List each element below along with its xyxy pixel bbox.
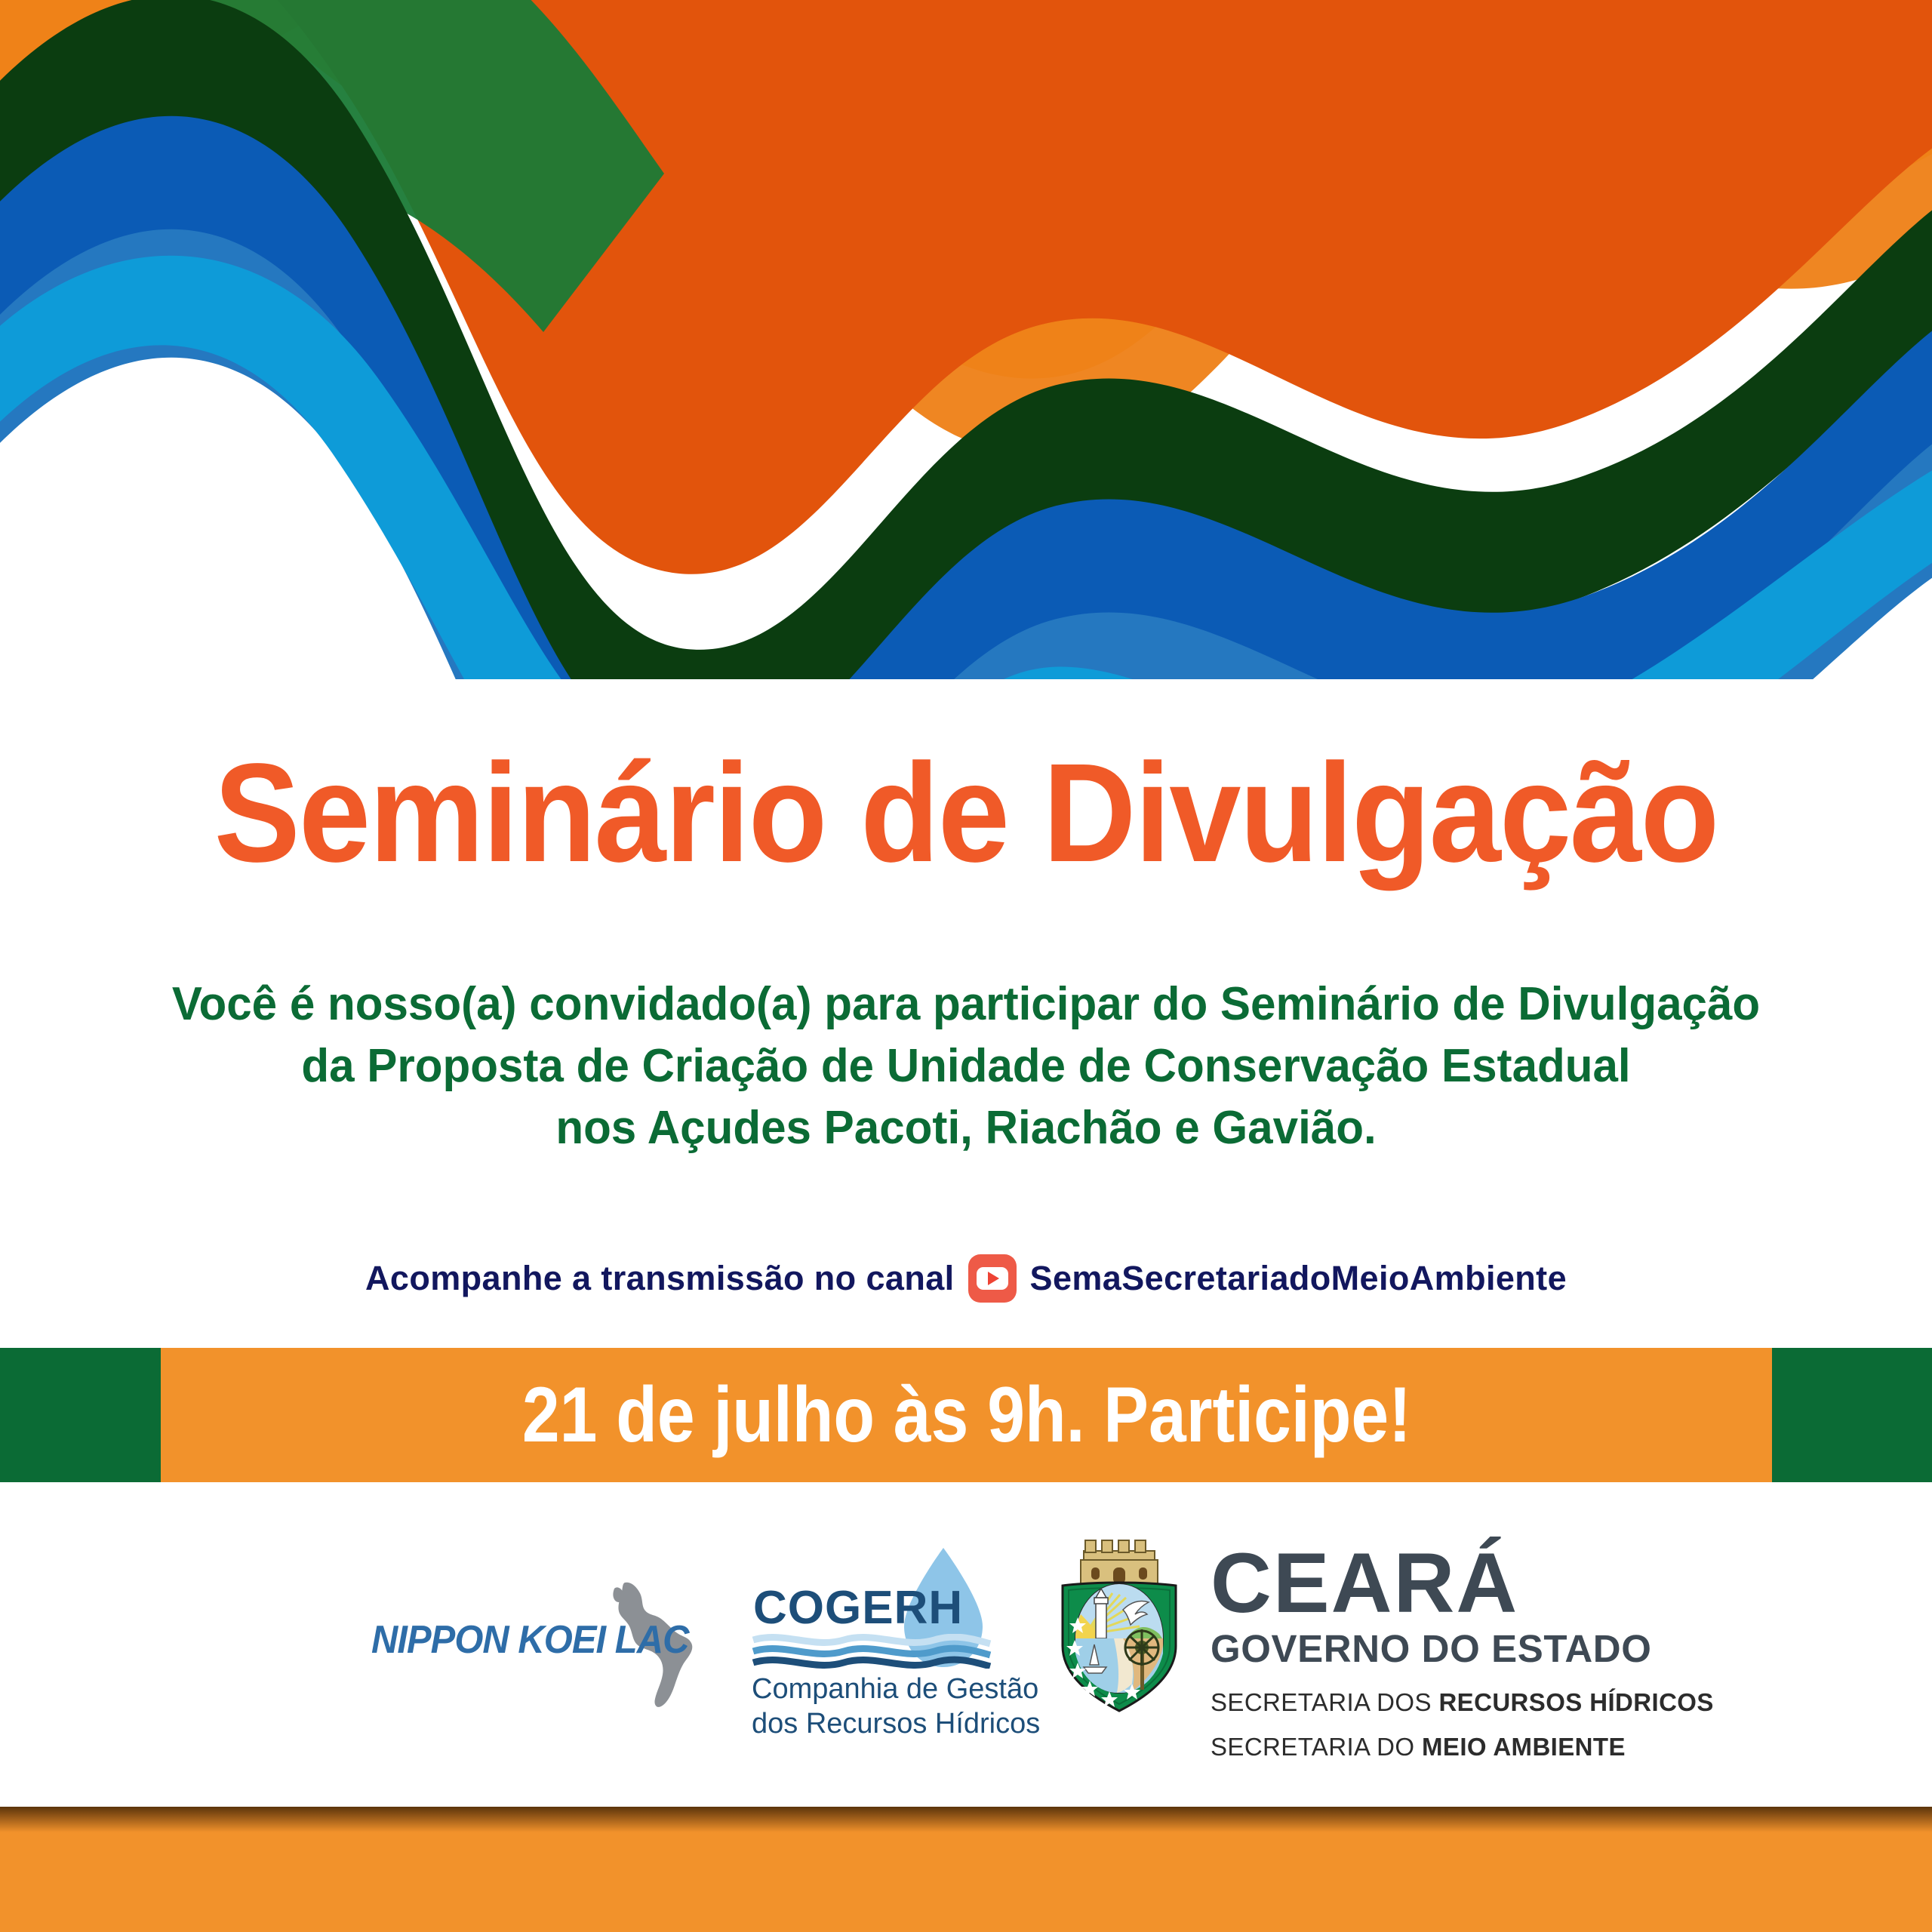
logo-cogerh-subtitle: Companhia de Gestão dos Recursos Hídrico… [752,1672,1040,1742]
poster-root: Seminário de Divulgação Você é nosso(a) … [0,0,1932,1932]
logo-nippon-koei-lac: NIPPON KOEI LAC [371,1577,696,1712]
ceara-secretaria-meio-ambiente: SECRETARIA DO MEIO AMBIENTE [1211,1734,1714,1761]
channel-line: Acompanhe a transmissão no canal SemaSec… [0,1254,1932,1303]
sec1-prefix: SECRETARIA DOS [1211,1688,1438,1716]
invitation-paragraph: Você é nosso(a) convidado(a) para partic… [29,974,1903,1158]
logo-cogerh-label: COGERH [753,1581,963,1635]
logo-cogerh-subtitle-line-1: Companhia de Gestão [752,1672,1040,1706]
invitation-line-1: Você é nosso(a) convidado(a) para partic… [29,974,1903,1035]
play-triangle-icon [988,1272,999,1285]
logo-cogerh: COGERH Companhia de Gestão dos Recursos … [749,1546,998,1743]
date-banner: 21 de julho às 9h. Participe! [0,1348,1932,1482]
bottom-strip-shadow [0,1807,1932,1832]
page-title: Seminário de Divulgação [77,743,1854,884]
wave-header-graphic [0,0,1932,679]
channel-name-label[interactable]: SemaSecretariadoMeioAmbiente [1030,1259,1567,1298]
bottom-orange-strip [0,1807,1932,1932]
channel-prefix-label: Acompanhe a transmissão no canal [365,1259,955,1298]
ceara-text-block: CEARÁ GOVERNO DO ESTADO SECRETARIA DOS R… [1211,1531,1714,1761]
sec1-bold: RECURSOS HÍDRICOS [1438,1688,1713,1716]
invitation-line-3: nos Açudes Pacoti, Riachão e Gavião. [29,1097,1903,1159]
logo-ceara-governo: CEARÁ GOVERNO DO ESTADO SECRETARIA DOS R… [1048,1531,1561,1758]
sec2-bold: MEIO AMBIENTE [1422,1733,1626,1761]
ceara-secretaria-recursos-hidricos: SECRETARIA DOS RECURSOS HÍDRICOS [1211,1689,1714,1716]
cogerh-waves-icon [752,1634,992,1669]
logo-nippon-koei-label: NIPPON KOEI LAC [371,1617,655,1663]
youtube-icon[interactable] [968,1254,1017,1303]
date-banner-center: 21 de julho às 9h. Participe! [161,1348,1772,1482]
date-banner-text: 21 de julho às 9h. Participe! [521,1376,1411,1454]
sec2-prefix: SECRETARIA DO [1211,1733,1422,1761]
logo-cogerh-subtitle-line-2: dos Recursos Hídricos [752,1706,1040,1741]
logo-row: NIPPON KOEI LAC COGERH Companhia de Gest… [0,1482,1932,1807]
ceara-coat-of-arms-icon [1048,1533,1191,1721]
ceara-government-label: GOVERNO DO ESTADO [1211,1626,1714,1672]
ceara-state-label: CEARÁ [1211,1543,1714,1623]
youtube-icon-plate [977,1267,1008,1290]
invitation-line-2: da Proposta de Criação de Unidade de Con… [29,1035,1903,1097]
